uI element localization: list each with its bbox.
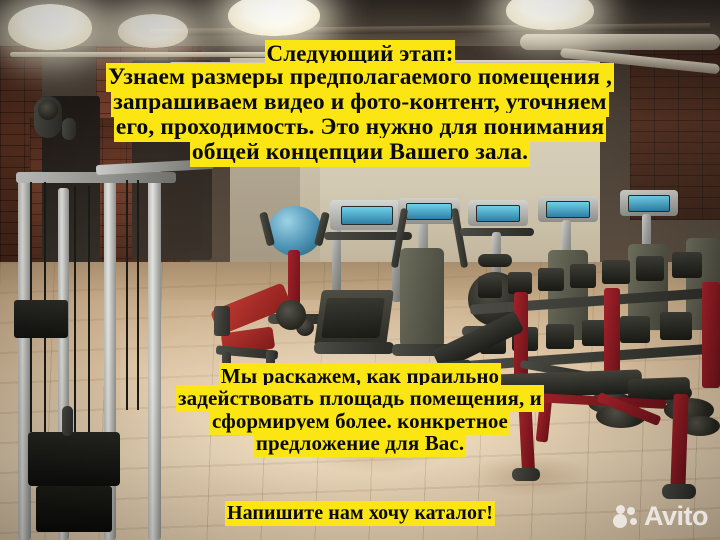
dumbbell-13 [660, 312, 692, 340]
bike-seat [478, 254, 512, 267]
top-text-block: Следующий этап: Узнаем размеры предполаг… [0, 42, 720, 166]
top-text-line-5: общей концепции Вашего зала. [0, 141, 720, 165]
dumbbell-small-left [214, 306, 230, 336]
elliptical-screen [406, 203, 452, 220]
middle-text-line-3: сформируем более. конкретное [0, 411, 720, 432]
treadmill-belt [321, 298, 385, 338]
cta-text-block: Напишите нам хочу каталог! [0, 503, 720, 524]
screenshot-root: Следующий этап: Узнаем размеры предполаг… [0, 0, 720, 540]
dumbbell-1 [478, 276, 502, 298]
cable-machine-post-right-2 [148, 170, 161, 540]
treadmill-screen [341, 206, 393, 225]
treadmill-base [314, 342, 394, 354]
middle-text-line-4: предложение для Вас. [0, 433, 720, 454]
dumbbell-4 [570, 264, 596, 288]
flat-bench-foot-right [662, 484, 696, 499]
stability-ball [268, 206, 322, 256]
middle-text-line-1: Мы раскажем, как праильно [0, 366, 720, 387]
dumbbell-3 [538, 268, 564, 291]
top-text-line-4: его, проходимость. Это нужно для пониман… [0, 116, 720, 140]
dumbbell-6 [636, 256, 664, 281]
avito-wordmark: Avito [644, 503, 708, 530]
dumbbell-2 [508, 272, 532, 294]
pendant-lamp-center-left [228, 0, 320, 36]
dumbbell-5 [602, 260, 630, 284]
top-text-line-1: Следующий этап: [0, 42, 720, 65]
avito-dots-logo-icon [613, 505, 639, 529]
top-text-line-3: запрашиваем видео и фото-контент, уточня… [0, 91, 720, 115]
weight-plate-center [276, 300, 306, 330]
middle-text-line-2: задействовать площадь помещения, и [0, 388, 720, 409]
dumbbell-12 [620, 316, 650, 343]
middle-text-block: Мы раскажем, как праильно задействовать … [0, 366, 720, 456]
cta-text-line-1: Напишите нам хочу каталог! [0, 503, 720, 523]
avito-watermark: Avito [613, 503, 708, 530]
top-text-line-2: Узнаем размеры предполагаемого помещения… [0, 66, 720, 90]
cardio-screen-right-1 [546, 201, 590, 218]
dumbbell-7 [672, 252, 702, 278]
bike-screen [476, 205, 520, 222]
cardio-screen-right-2 [628, 195, 670, 212]
elliptical-body [400, 248, 444, 348]
dumbbell-10 [546, 324, 574, 349]
flat-bench-foot-left [512, 468, 540, 481]
weight-stack-right [14, 300, 68, 338]
